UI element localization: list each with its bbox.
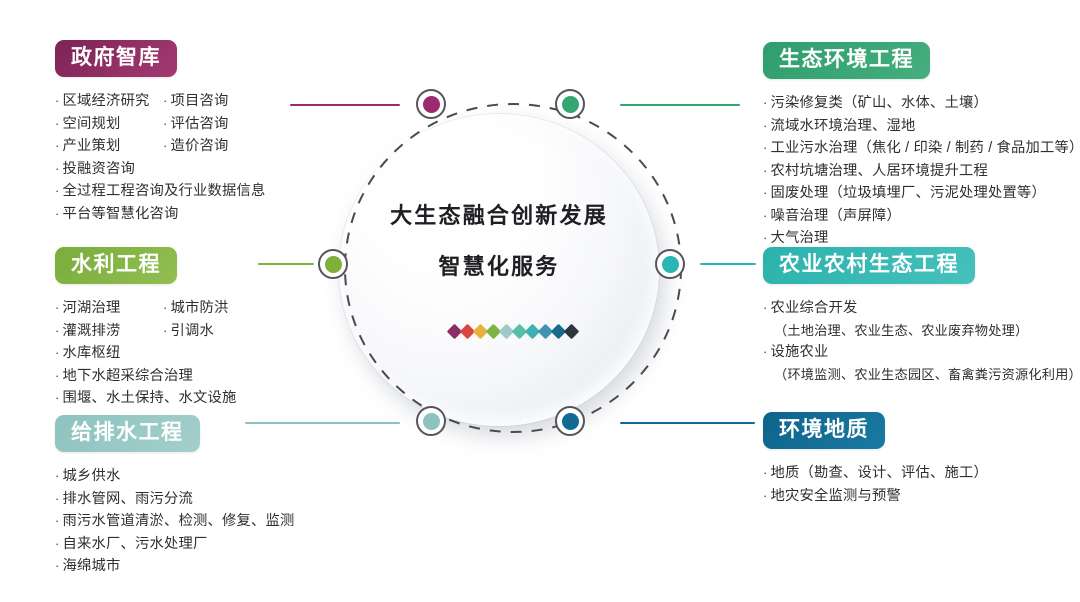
panel-eco-environment: 生态环境工程 ·污染修复类（矿山、水体、土壤）·流域水环境治理、湿地·工业污水治… [763,42,1080,250]
panel-water-supply-drainage: 给排水工程 ·城乡供水·排水管网、雨污分流·雨污水管道清淤、检测、修复、监测·自… [55,415,294,578]
panel-environmental-geology: 环境地质 ·地质（勘查、设计、评估、施工）·地灾安全监测与预警 [763,412,988,507]
list-item: ·灌溉排涝 [55,320,163,343]
node-dot-government-think-tank [423,96,440,113]
list-item: ·水库枢纽 [55,342,237,365]
list-item-label: 大气治理 [771,230,829,246]
list-item-label: 地下水超采综合治理 [63,368,193,384]
list-item-label: 城市防洪 [171,300,229,316]
list-item: ·排水管网、雨污分流 [55,488,294,511]
list-item: ·农村坑塘治理、人居环境提升工程 [763,160,1080,183]
node-government-think-tank[interactable] [416,89,446,119]
bullet-icon: · [55,323,60,338]
bullet-icon: · [55,536,60,551]
list-item-label: 投融资咨询 [63,161,135,177]
list-item: ·污染修复类（矿山、水体、土壤） [763,92,1080,115]
list-cell: ·引调水 [163,320,214,343]
list-item: ·工业污水治理（焦化 / 印染 / 制药 / 食品加工等） [763,137,1080,160]
panel-water-conservancy: 水利工程 ·河湖治理·城市防洪·灌溉排涝·引调水·水库枢纽·地下水超采综合治理·… [55,247,237,410]
list-item: ·城市防洪 [163,297,229,320]
list-row: ·空间规划·评估咨询 [55,113,266,136]
list-item-label: 全过程工程咨询及行业数据信息 [63,183,266,199]
list-item-label: 评估咨询 [171,116,229,132]
node-dot-eco-environment [562,96,579,113]
list-item-label: 围堰、水土保持、水文设施 [63,390,237,406]
list-water-conservancy: ·河湖治理·城市防洪·灌溉排涝·引调水·水库枢纽·地下水超采综合治理·围堰、水土… [55,297,237,410]
list-item: ·地灾安全监测与预警 [763,485,988,508]
list-item-label: 设施农业 [771,344,829,360]
bullet-icon: · [55,183,60,198]
list-item-label: 污染修复类（矿山、水体、土壤） [771,95,988,111]
list-item: ·引调水 [163,320,214,343]
list-item: ·产业策划 [55,135,163,158]
bullet-icon: · [163,138,168,153]
list-item: （环境监测、农业生态园区、畜禽粪污资源化利用） [763,364,1080,386]
list-item-label: 海绵城市 [63,558,121,574]
center-slogan-line1: 大生态融合创新发展 [353,205,645,227]
list-item: ·区域经济研究 [55,90,163,113]
bullet-icon: · [55,116,60,131]
list-item: ·海绵城市 [55,555,294,578]
list-item-label: （土地治理、农业生态、农业废弃物处理） [774,323,1028,338]
diamond-9 [564,324,580,340]
node-water-supply-drainage[interactable] [416,406,446,436]
list-item: ·噪音治理（声屏障） [763,205,1080,228]
list-item-label: 空间规划 [63,116,121,132]
list-item-label: 河湖治理 [63,300,121,316]
list-cell: ·灌溉排涝 [55,320,163,343]
list-item-label: 固废处理（垃圾填埋厂、污泥处理处置等） [771,185,1046,201]
list-row: ·区域经济研究·项目咨询 [55,90,266,113]
bullet-icon: · [763,95,768,110]
node-environmental-geology[interactable] [555,406,585,436]
list-cell: ·造价咨询 [163,135,229,158]
bullet-icon: · [763,208,768,223]
list-cell: ·区域经济研究 [55,90,163,113]
node-dot-environmental-geology [562,413,579,430]
center-slogan: 大生态融合创新发展 智慧化服务 [353,205,645,278]
badge-water-supply-drainage[interactable]: 给排水工程 [55,415,200,452]
bullet-icon: · [55,491,60,506]
two-column-group: ·区域经济研究·项目咨询·空间规划·评估咨询·产业策划·造价咨询 [55,90,266,158]
list-item-label: 造价咨询 [171,138,229,154]
list-item: ·地下水超采综合治理 [55,365,237,388]
panel-agriculture-rural: 农业农村生态工程 ·农业综合开发（土地治理、农业生态、农业废弃物处理）·设施农业… [763,247,1080,385]
bullet-icon: · [763,230,768,245]
bullet-icon: · [763,163,768,178]
list-item-label: （环境监测、农业生态园区、畜禽粪污资源化利用） [774,367,1080,382]
list-item: ·围堰、水土保持、水文设施 [55,387,237,410]
center-slogan-line2: 智慧化服务 [353,256,645,278]
list-item: ·评估咨询 [163,113,229,136]
list-item: ·项目咨询 [163,90,229,113]
list-row: ·产业策划·造价咨询 [55,135,266,158]
list-item: ·空间规划 [55,113,163,136]
bullet-icon: · [763,488,768,503]
list-item: ·地质（勘查、设计、评估、施工） [763,462,988,485]
list-item: ·城乡供水 [55,465,294,488]
bullet-icon: · [763,300,768,315]
list-item: （土地治理、农业生态、农业废弃物处理） [763,320,1080,342]
list-item-label: 农业综合开发 [771,300,858,316]
list-item-label: 排水管网、雨污分流 [63,491,193,507]
list-water-supply-drainage: ·城乡供水·排水管网、雨污分流·雨污水管道清淤、检测、修复、监测·自来水厂、污水… [55,465,294,578]
list-item: ·设施农业 [763,341,1080,364]
list-item-label: 雨污水管道清淤、检测、修复、监测 [63,513,295,529]
list-item: ·造价咨询 [163,135,229,158]
bullet-icon: · [55,390,60,405]
list-item: ·投融资咨询 [55,158,266,181]
bullet-icon: · [55,93,60,108]
list-government-think-tank: ·区域经济研究·项目咨询·空间规划·评估咨询·产业策划·造价咨询·投融资咨询·全… [55,90,266,225]
list-item: ·固废处理（垃圾填埋厂、污泥处理处置等） [763,182,1080,205]
bullet-icon: · [55,368,60,383]
bullet-icon: · [763,185,768,200]
bullet-icon: · [55,161,60,176]
bullet-icon: · [55,468,60,483]
list-item: ·平台等智慧化咨询 [55,203,266,226]
list-item-label: 水库枢纽 [63,345,121,361]
bullet-icon: · [763,140,768,155]
bullet-icon: · [763,118,768,133]
node-eco-environment[interactable] [555,89,585,119]
list-item-label: 自来水厂、污水处理厂 [63,536,208,552]
bullet-icon: · [163,300,168,315]
node-dot-water-supply-drainage [423,413,440,430]
list-row: ·河湖治理·城市防洪 [55,297,237,320]
list-item-label: 城乡供水 [63,468,121,484]
list-item-label: 地灾安全监测与预警 [771,488,901,504]
list-item-label: 地质（勘查、设计、评估、施工） [771,465,988,481]
list-row: ·灌溉排涝·引调水 [55,320,237,343]
list-item-label: 区域经济研究 [63,93,150,109]
center-hub: 大生态融合创新发展 智慧化服务 [313,92,713,444]
badge-water-conservancy[interactable]: 水利工程 [55,247,177,284]
list-cell: ·河湖治理 [55,297,163,320]
list-cell: ·产业策划 [55,135,163,158]
list-cell: ·城市防洪 [163,297,229,320]
bullet-icon: · [55,558,60,573]
list-item: ·雨污水管道清淤、检测、修复、监测 [55,510,294,533]
badge-eco-environment[interactable]: 生态环境工程 [763,42,930,79]
list-item: ·农业综合开发 [763,297,1080,320]
bullet-icon: · [55,345,60,360]
infographic-canvas: 大生态融合创新发展 智慧化服务 政府智库 ·区域经济研究·项目咨询·空间规划·评… [0,0,1080,602]
list-environmental-geology: ·地质（勘查、设计、评估、施工）·地灾安全监测与预警 [763,462,988,507]
badge-environmental-geology[interactable]: 环境地质 [763,412,885,449]
node-dot-agriculture-rural [662,256,679,273]
list-item-label: 流域水环境治理、湿地 [771,118,916,134]
bullet-icon: · [55,138,60,153]
list-agriculture-rural: ·农业综合开发（土地治理、农业生态、农业废弃物处理）·设施农业（环境监测、农业生… [763,297,1080,385]
bullet-icon: · [55,513,60,528]
badge-agriculture-rural[interactable]: 农业农村生态工程 [763,247,975,284]
diamond-accent-row [313,326,713,337]
bullet-icon: · [163,93,168,108]
list-item-label: 产业策划 [63,138,121,154]
list-item-label: 灌溉排涝 [63,323,121,339]
bullet-icon: · [163,116,168,131]
badge-government-think-tank[interactable]: 政府智库 [55,40,177,77]
bullet-icon: · [763,465,768,480]
list-cell: ·评估咨询 [163,113,229,136]
list-item-label: 农村坑塘治理、人居环境提升工程 [771,163,988,179]
panel-government-think-tank: 政府智库 ·区域经济研究·项目咨询·空间规划·评估咨询·产业策划·造价咨询·投融… [55,40,266,225]
list-cell: ·项目咨询 [163,90,229,113]
node-dot-water-conservancy [325,256,342,273]
list-item: ·自来水厂、污水处理厂 [55,533,294,556]
list-item-label: 平台等智慧化咨询 [63,206,179,222]
bullet-icon: · [163,323,168,338]
list-item-label: 噪音治理（声屏障） [771,208,901,224]
bullet-icon: · [55,300,60,315]
list-item-label: 工业污水治理（焦化 / 印染 / 制药 / 食品加工等） [771,140,1080,156]
bullet-icon: · [55,206,60,221]
list-cell: ·空间规划 [55,113,163,136]
list-item: ·全过程工程咨询及行业数据信息 [55,180,266,203]
list-eco-environment: ·污染修复类（矿山、水体、土壤）·流域水环境治理、湿地·工业污水治理（焦化 / … [763,92,1080,250]
list-item: ·河湖治理 [55,297,163,320]
node-agriculture-rural[interactable] [655,249,685,279]
bullet-icon: · [763,344,768,359]
connector-water-conservancy [258,263,314,265]
two-column-group: ·河湖治理·城市防洪·灌溉排涝·引调水 [55,297,237,342]
list-item: ·流域水环境治理、湿地 [763,115,1080,138]
list-item-label: 项目咨询 [171,93,229,109]
list-item-label: 引调水 [171,323,215,339]
node-water-conservancy[interactable] [318,249,348,279]
